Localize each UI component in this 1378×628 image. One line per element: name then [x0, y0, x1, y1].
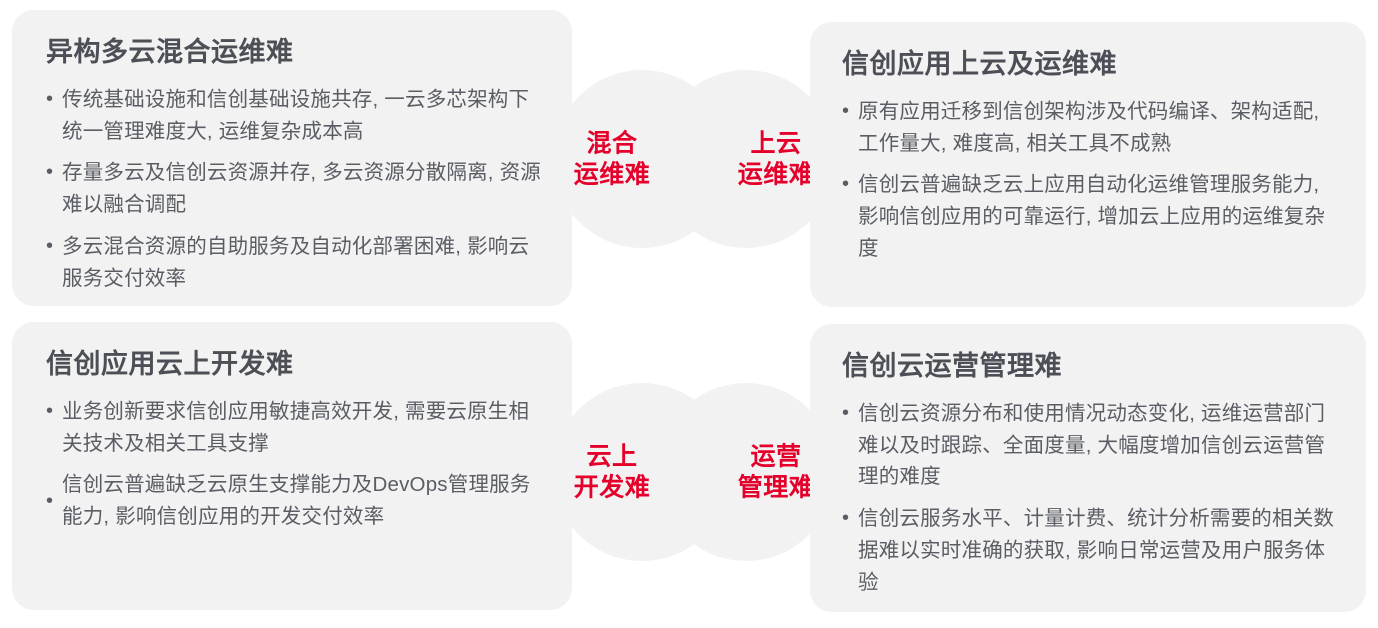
bullet-dot-icon: •: [842, 503, 858, 534]
panel-content: 信创应用上云及运维难 • 原有应用迁移到信创架构涉及代码编译、架构适配, 工作量…: [810, 22, 1366, 295]
panel-cloud-development: 信创应用云上开发难 • 业务创新要求信创应用敏捷高效开发, 需要云原生相关技术及…: [12, 322, 572, 610]
panel-app-migration-ops: 信创应用上云及运维难 • 原有应用迁移到信创架构涉及代码编译、架构适配, 工作量…: [810, 22, 1366, 307]
panel-content: 信创应用云上开发难 • 业务创新要求信创应用敏捷高效开发, 需要云原生相关技术及…: [12, 322, 572, 563]
list-item: • 多云混合资源的自助服务及自动化部署困难, 影响云服务交付效率: [46, 231, 542, 295]
venn-cluster-top: 混合 运维难 上云 运维难: [553, 70, 835, 248]
panel-title: 信创应用云上开发难: [46, 348, 542, 382]
panel-cloud-operations-management: 信创云运营管理难 • 信创云资源分布和使用情况动态变化, 运维运营部门难以及时跟…: [810, 324, 1366, 612]
panel-hybrid-multicloud-ops: 异构多云混合运维难 • 传统基础设施和信创基础设施共存, 一云多芯架构下统一管理…: [12, 10, 572, 306]
bullet-dot-icon: •: [842, 169, 858, 200]
list-item: • 存量多云及信创云资源并存, 多云资源分散隔离, 资源难以融合调配: [46, 157, 542, 221]
panel-content: 异构多云混合运维难 • 传统基础设施和信创基础设施共存, 一云多芯架构下统一管理…: [12, 10, 572, 324]
list-item: • 信创云资源分布和使用情况动态变化, 运维运营部门难以及时跟踪、全面度量, 大…: [842, 398, 1336, 493]
venn-cluster-bottom: 云上 开发难 运营 管理难: [553, 383, 835, 561]
bullet-text: 业务创新要求信创应用敏捷高效开发, 需要云原生相关技术及相关工具支撑: [62, 396, 542, 460]
bullet-text: 多云混合资源的自助服务及自动化部署困难, 影响云服务交付效率: [62, 231, 542, 295]
bullet-text: 信创云普遍缺乏云原生支撑能力及DevOps管理服务能力, 影响信创应用的开发交付…: [62, 469, 542, 533]
list-item: • 传统基础设施和信创基础设施共存, 一云多芯架构下统一管理难度大, 运维复杂成…: [46, 84, 542, 148]
bullet-list: • 信创云资源分布和使用情况动态变化, 运维运营部门难以及时跟踪、全面度量, 大…: [842, 398, 1336, 599]
panel-title: 信创云运营管理难: [842, 350, 1336, 384]
bullet-dot-icon: •: [46, 84, 62, 115]
bullet-text: 传统基础设施和信创基础设施共存, 一云多芯架构下统一管理难度大, 运维复杂成本高: [62, 84, 542, 148]
panel-title: 异构多云混合运维难: [46, 36, 542, 70]
bullet-dot-icon: •: [842, 96, 858, 127]
bullet-list: • 业务创新要求信创应用敏捷高效开发, 需要云原生相关技术及相关工具支撑 • 信…: [46, 396, 542, 533]
bullet-text: 存量多云及信创云资源并存, 多云资源分散隔离, 资源难以融合调配: [62, 157, 542, 221]
list-item: • 信创云普遍缺乏云原生支撑能力及DevOps管理服务能力, 影响信创应用的开发…: [46, 469, 542, 533]
bullet-text: 原有应用迁移到信创架构涉及代码编译、架构适配, 工作量大, 难度高, 相关工具不…: [858, 96, 1336, 160]
panel-content: 信创云运营管理难 • 信创云资源分布和使用情况动态变化, 运维运营部门难以及时跟…: [810, 324, 1366, 628]
bullet-dot-icon: •: [46, 157, 62, 188]
venn-top-labels: 混合 运维难 上云 运维难: [553, 70, 835, 248]
bullet-text: 信创云服务水平、计量计费、统计分析需要的相关数据难以实时准确的获取, 影响日常运…: [858, 503, 1336, 598]
list-item: • 业务创新要求信创应用敏捷高效开发, 需要云原生相关技术及相关工具支撑: [46, 396, 542, 460]
panel-title: 信创应用上云及运维难: [842, 48, 1336, 82]
bullet-list: • 传统基础设施和信创基础设施共存, 一云多芯架构下统一管理难度大, 运维复杂成…: [46, 84, 542, 295]
diagram-canvas: 混合 运维难 上云 运维难 云上 开发难 运营 管理难 异构多云混合运维难 • …: [0, 0, 1378, 620]
bullet-text: 信创云普遍缺乏云上应用自动化运维管理服务能力, 影响信创应用的可靠运行, 增加云…: [858, 169, 1336, 264]
bullet-dot-icon: •: [842, 398, 858, 429]
list-item: • 信创云服务水平、计量计费、统计分析需要的相关数据难以实时准确的获取, 影响日…: [842, 503, 1336, 598]
list-item: • 信创云普遍缺乏云上应用自动化运维管理服务能力, 影响信创应用的可靠运行, 增…: [842, 169, 1336, 264]
bullet-dot-icon: •: [46, 486, 62, 517]
venn-bottom-labels: 云上 开发难 运营 管理难: [553, 383, 835, 561]
bullet-dot-icon: •: [46, 231, 62, 262]
bullet-list: • 原有应用迁移到信创架构涉及代码编译、架构适配, 工作量大, 难度高, 相关工…: [842, 96, 1336, 265]
bullet-text: 信创云资源分布和使用情况动态变化, 运维运营部门难以及时跟踪、全面度量, 大幅度…: [858, 398, 1336, 493]
bullet-dot-icon: •: [46, 396, 62, 427]
list-item: • 原有应用迁移到信创架构涉及代码编译、架构适配, 工作量大, 难度高, 相关工…: [842, 96, 1336, 160]
